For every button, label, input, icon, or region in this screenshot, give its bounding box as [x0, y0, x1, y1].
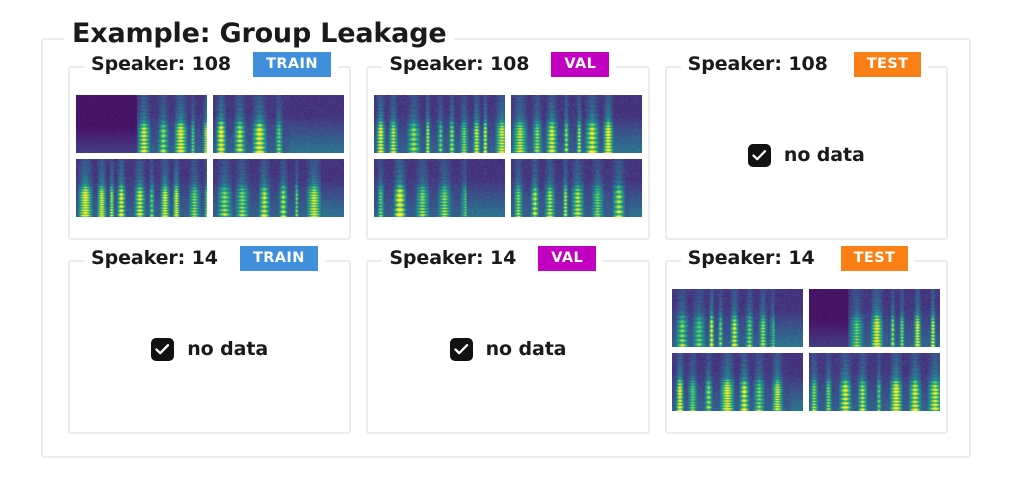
- spectrogram-thumbnail[interactable]: [76, 159, 207, 217]
- checked-checkbox-icon[interactable]: [748, 144, 771, 167]
- spectrogram-grid: [76, 95, 344, 217]
- spectrogram-thumbnail[interactable]: [213, 95, 344, 153]
- no-data-indicator: no data: [450, 338, 567, 361]
- panel-grid: Speaker: 108 TRAIN Speaker: 108 VAL: [68, 66, 948, 434]
- no-data-label: no data: [784, 144, 865, 166]
- checked-checkbox-icon[interactable]: [151, 338, 174, 361]
- spectrogram-thumbnail[interactable]: [672, 353, 803, 411]
- panel-speaker-14-train[interactable]: Speaker: 14 TRAIN no data: [68, 260, 351, 434]
- page-title: Example: Group Leakage: [64, 18, 454, 49]
- spectrogram-thumbnail[interactable]: [374, 159, 505, 217]
- panel-body: [70, 68, 349, 238]
- panel-body: no data: [368, 262, 647, 432]
- panel-body: [667, 262, 946, 432]
- panel-speaker-108-test[interactable]: Speaker: 108 TEST no data: [665, 66, 948, 240]
- panel-body: no data: [70, 262, 349, 432]
- panel-body: [368, 68, 647, 238]
- spectrogram-thumbnail[interactable]: [511, 95, 642, 153]
- panel-body: no data: [667, 68, 946, 238]
- spectrogram-thumbnail[interactable]: [672, 289, 803, 347]
- checked-checkbox-icon[interactable]: [450, 338, 473, 361]
- figure-container: Example: Group Leakage Speaker: 108 TRAI…: [41, 38, 971, 458]
- panel-speaker-14-val[interactable]: Speaker: 14 VAL no data: [366, 260, 649, 434]
- no-data-indicator: no data: [151, 338, 268, 361]
- no-data-indicator: no data: [748, 144, 865, 167]
- panel-speaker-108-val[interactable]: Speaker: 108 VAL: [366, 66, 649, 240]
- spectrogram-thumbnail[interactable]: [374, 95, 505, 153]
- spectrogram-grid: [672, 289, 940, 411]
- spectrogram-grid: [374, 95, 642, 217]
- spectrogram-thumbnail[interactable]: [213, 159, 344, 217]
- spectrogram-thumbnail[interactable]: [76, 95, 207, 153]
- no-data-label: no data: [187, 338, 268, 360]
- spectrogram-thumbnail[interactable]: [511, 159, 642, 217]
- panel-speaker-14-test[interactable]: Speaker: 14 TEST: [665, 260, 948, 434]
- panel-speaker-108-train[interactable]: Speaker: 108 TRAIN: [68, 66, 351, 240]
- spectrogram-thumbnail[interactable]: [809, 289, 940, 347]
- no-data-label: no data: [486, 338, 567, 360]
- spectrogram-thumbnail[interactable]: [809, 353, 940, 411]
